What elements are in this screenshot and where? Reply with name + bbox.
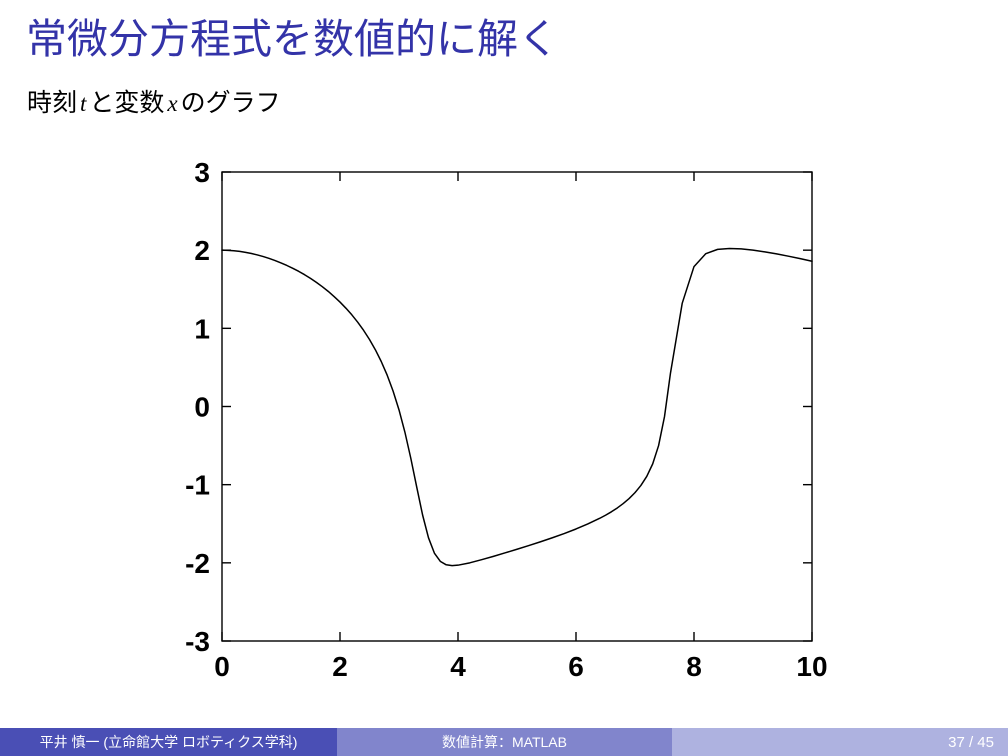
x-tick-label: 10 (796, 651, 827, 682)
y-tick-label: 1 (194, 313, 210, 344)
y-tick-label: -1 (185, 470, 210, 501)
x-tick-label: 4 (450, 651, 466, 682)
y-axis-tick-labels: 3210-1-2-3 (185, 157, 210, 657)
y-axis-tick-marks (222, 172, 812, 641)
plot-figure: 3210-1-2-3 0246810 (150, 140, 870, 680)
subtitle-variable-t: t (77, 91, 89, 116)
x-tick-label: 2 (332, 651, 348, 682)
footer-page-number: 37 / 45 (672, 728, 1008, 756)
slide-footer: 平井 慎一 (立命館大学 ロボティクス学科) 数値計算：MATLAB 37 / … (0, 728, 1008, 756)
x-tick-label: 8 (686, 651, 702, 682)
x-axis-tick-labels: 0246810 (214, 651, 827, 682)
y-tick-label: -3 (185, 626, 210, 657)
page-title: 常微分方程式を数値的に解く (26, 16, 559, 63)
y-tick-label: 0 (194, 392, 210, 423)
subtitle-variable-x: x (164, 91, 180, 116)
y-tick-label: 2 (194, 235, 210, 266)
footer-subject: 数値計算：MATLAB (337, 728, 672, 756)
plot-svg: 3210-1-2-3 0246810 (150, 140, 870, 680)
data-curve-x-of-t (222, 248, 812, 565)
y-tick-label: -2 (185, 548, 210, 579)
plot-axes-frame (222, 172, 812, 641)
x-tick-label: 6 (568, 651, 584, 682)
y-tick-label: 3 (194, 157, 210, 188)
subtitle-text-mid: と変数 (89, 89, 164, 117)
page-subtitle: 時刻tと変数xのグラフ (27, 88, 281, 118)
x-axis-tick-marks (222, 172, 812, 641)
x-tick-label: 0 (214, 651, 230, 682)
footer-author: 平井 慎一 (立命館大学 ロボティクス学科) (0, 728, 337, 756)
subtitle-text-post: のグラフ (181, 89, 281, 117)
subtitle-text-pre: 時刻 (27, 89, 77, 117)
